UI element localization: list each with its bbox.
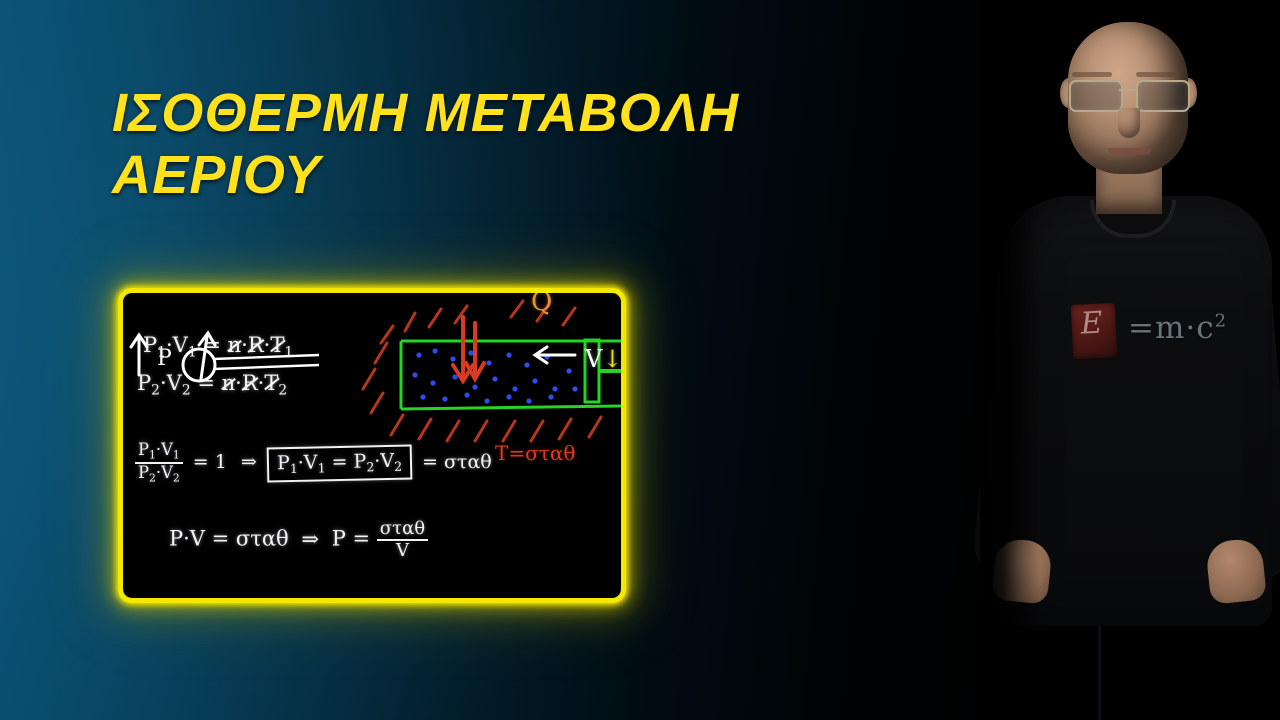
glasses-right-lens [1136,80,1190,112]
eq4-implies: ⇒ [301,527,319,551]
heat-arrow-down [453,317,484,381]
title-line-2: ΑΕΡΙΟΥ [112,144,872,206]
eq2-cancel-R: R [242,371,258,395]
eq4-lhs: P·V = σταθ [169,527,289,551]
volume-decrease-arrow [535,347,575,363]
gas-molecules [412,348,577,403]
pressure-fraction: σταθ V [377,519,428,561]
pressure-numerator: σταθ [377,519,428,539]
presenter-edge-blend [980,0,1040,720]
equation-line-4: P·V = σταθ ⇒ P = σταθ V [169,519,428,561]
eq1-dot-1: · [241,333,248,357]
eq1-cancel-R: R [248,333,264,357]
volume-label: V↓ [585,345,621,373]
eq2-P: P [137,371,151,395]
eq2-cancel-T: T [264,371,278,395]
presenter-mouth [1108,148,1152,155]
eq2-V-sub: 2 [182,382,191,398]
tshirt-patch: E [1071,303,1118,359]
eq2-T-sub: 2 [278,382,287,398]
equation-line-3: P1·V1 P2·V2 = 1 ⇒ P1·V1 = P2·V2 = σταθ [135,441,492,484]
eq2-cancel-n: n [222,371,236,395]
eq2-dot-0: · [160,371,167,395]
title-line-1: ΙΣΟΘΕΡΜΗ ΜΕΤΑΒΟΛΗ [112,82,872,144]
ratio-equals-one: = 1 [193,451,227,473]
presenter-glasses [1066,80,1192,110]
eq1-cancel-T: T [270,333,284,357]
boxed-isothermal-law: P1·V1 = P2·V2 [266,444,412,482]
heat-hatching-bottom [363,343,601,441]
ratio-implies: ⇒ [241,451,257,473]
eq1-cancel-n: n [228,333,242,357]
isothermal-constant-label: = σταθ [422,451,492,473]
glasses-left-lens [1069,80,1123,112]
presenter-nose [1118,108,1140,138]
eq2-equals: = [197,371,215,395]
eq4-P: P = [332,527,370,551]
eq1-P: P [143,333,157,357]
blackboard-panel: P1·V1 = n·R·T1 P2·V2 = n·R·T2 } ⇒ P1·V1 … [118,288,626,603]
eq2-V: V [167,371,182,395]
temperature-constant-label: T=σταθ [495,441,575,465]
eq1-equals: = [203,333,221,357]
pressure-denominator: V [377,539,428,561]
ratio-numerator: P1·V1 [135,441,183,462]
presenter-figure: E =m·c2 [980,0,1280,720]
equation-line-2: P2·V2 = n·R·T2 [137,371,287,398]
video-slide: ΙΣΟΘΕΡΜΗ ΜΕΤΑΒΟΛΗ ΑΕΡΙΟΥ P1·V1 = n·R·T1 … [0,0,1280,720]
blackboard-surface: P1·V1 = n·R·T1 P2·V2 = n·R·T2 } ⇒ P1·V1 … [123,293,621,598]
glasses-bridge [1119,89,1136,91]
equation-line-1: P1·V1 = n·R·T1 [143,333,293,360]
tshirt-formula: =m·c2 [1128,310,1227,346]
eq1-P-sub: 1 [157,344,166,360]
ratio-fraction: P1·V1 P2·V2 [135,441,183,484]
eq2-P-sub: 2 [151,382,160,398]
ratio-denominator: P2·V2 [135,462,183,485]
eq1-V-sub: 1 [188,344,197,360]
presenter-right-eyebrow [1136,72,1176,77]
slide-title: ΙΣΟΘΕΡΜΗ ΜΕΤΑΒΟΛΗ ΑΕΡΙΟΥ [112,82,872,206]
eq1-V: ·V [166,333,188,357]
eq1-T-sub: 1 [284,344,293,360]
heat-label-Q: Q [531,293,552,317]
eq2-dot-1: · [235,371,242,395]
presenter-left-eyebrow [1072,72,1112,77]
